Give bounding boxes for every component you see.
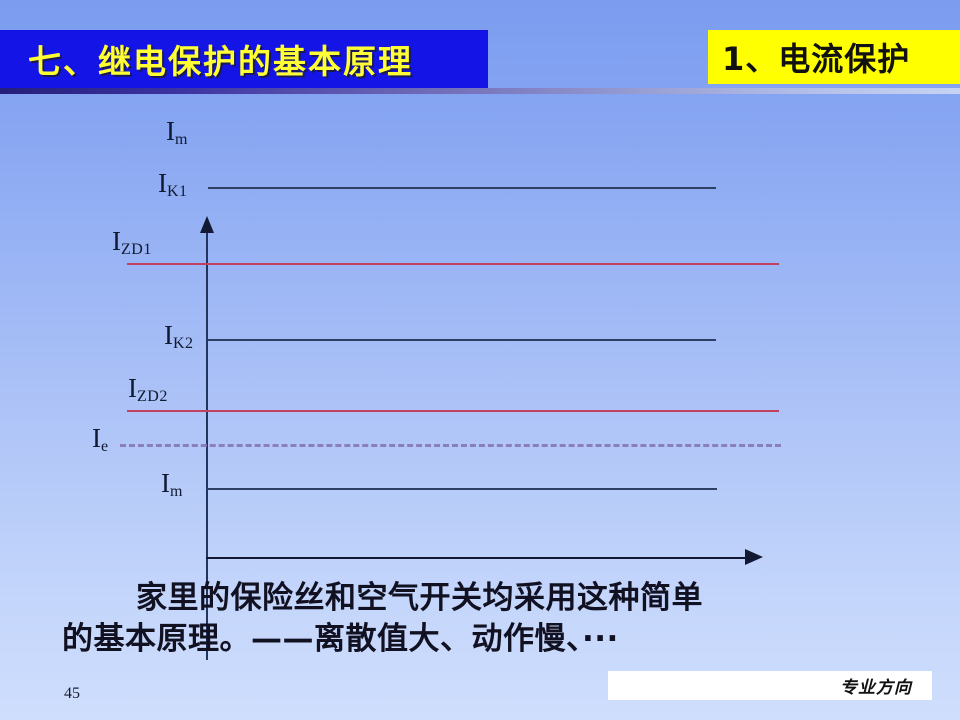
level-line-izd1 (127, 263, 779, 265)
page-number: 45 (64, 685, 80, 703)
level-line-ie (120, 444, 781, 447)
slide-canvas: 七、继电保护的基本原理 1、电流保护 Im IK1 IZD1 IK2 (0, 0, 960, 720)
slide-title-box: 七、继电保护的基本原理 (0, 30, 488, 88)
level-label-ik1: IK1 (158, 170, 188, 200)
level-line-im (207, 488, 717, 490)
slide-title: 七、继电保护的基本原理 (0, 35, 413, 83)
footer-brand-box: 专业方向 (608, 671, 932, 700)
level-label-im: Im (161, 470, 183, 500)
slide-caption: 家里的保险丝和空气开关均采用这种简单 的基本原理。——离散值大、动作慢、··· (62, 578, 922, 660)
level-label-izd2: IZD2 (128, 375, 168, 405)
level-line-izd2 (127, 410, 779, 412)
level-label-ie: Ie (92, 425, 109, 455)
level-label-ik2: IK2 (164, 322, 194, 352)
level-line-ik2 (208, 339, 716, 341)
slide-subtitle-box: 1、电流保护 (708, 30, 960, 84)
caption-line-1: 家里的保险丝和空气开关均采用这种简单 (62, 578, 922, 619)
header-divider-rule (0, 88, 960, 94)
x-axis-line (206, 557, 748, 559)
level-label-izd1: IZD1 (112, 228, 152, 258)
level-line-ik1 (208, 187, 716, 189)
x-axis-arrow-icon (745, 549, 763, 565)
footer-brand-label: 专业方向 (840, 673, 912, 698)
slide-subtitle: 1、电流保护 (708, 34, 910, 80)
y-axis-arrow-icon (200, 216, 214, 233)
current-protection-chart: Im IK1 IZD1 IK2 IZD2 Ie Im (0, 100, 960, 575)
y-axis-label: Im (166, 118, 188, 148)
caption-line-2: 的基本原理。——离散值大、动作慢、··· (62, 619, 922, 660)
